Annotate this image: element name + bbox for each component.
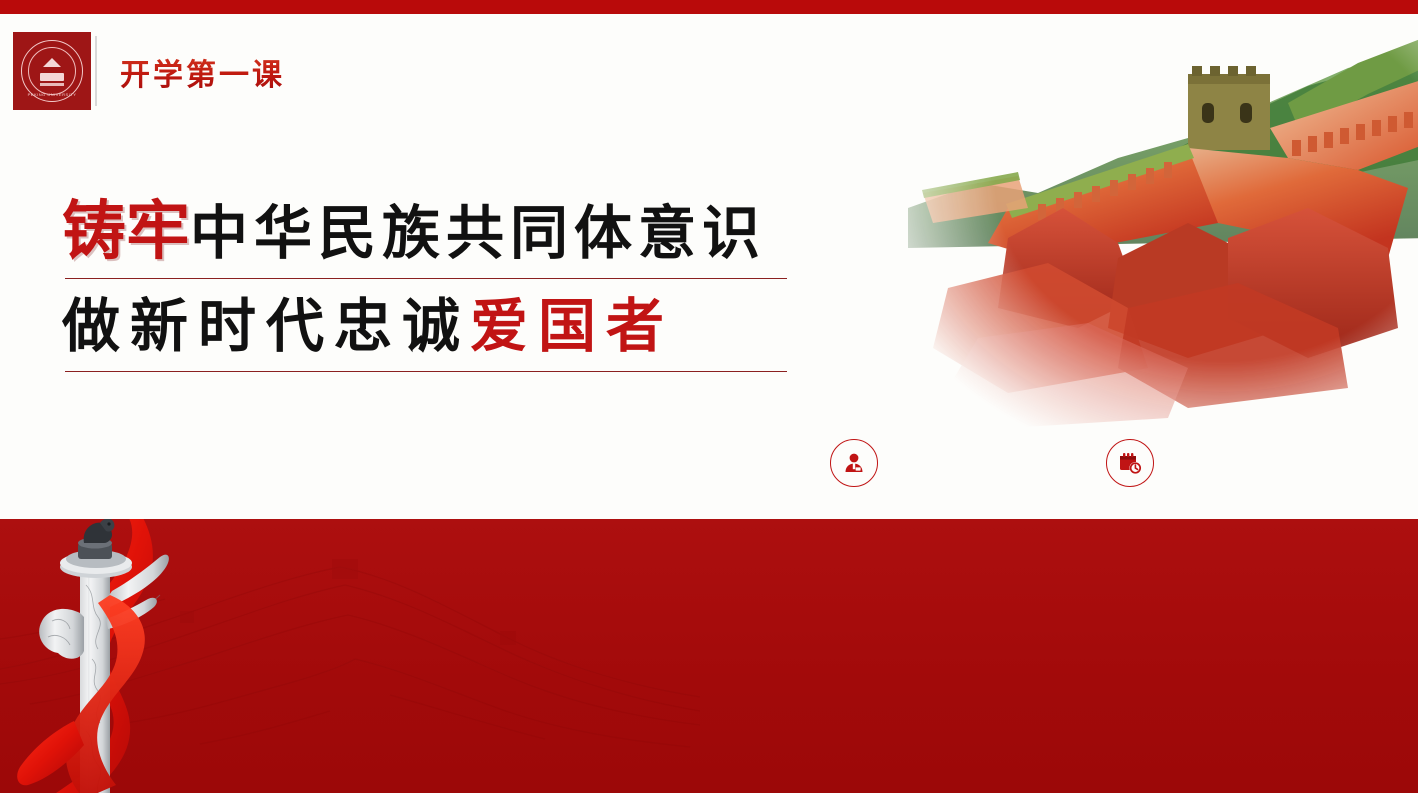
headline-line-2-emphasis: 爱国者 — [470, 292, 674, 360]
header-divider — [95, 36, 97, 106]
calendar-clock-icon — [1117, 450, 1143, 476]
logo-ring-text-bottom: PEKING UNIVERSITY — [28, 92, 77, 97]
huabiao-column-decoration — [14, 519, 214, 793]
meta-badges — [830, 439, 1154, 487]
headline-line-1: 铸牢中华民族共同体意识 — [62, 200, 787, 264]
presenter-icon — [841, 450, 867, 476]
headline-line-2: 做新时代忠诚爱国者 — [62, 297, 787, 355]
presenter-badge[interactable] — [830, 439, 878, 487]
date-badge[interactable] — [1106, 439, 1154, 487]
header-title: 开学第一课 — [120, 50, 285, 94]
headline-line-1-rest: 中华民族共同体意识 — [190, 199, 766, 267]
headline-line-1-emphasis: 铸牢 — [62, 195, 190, 269]
slide-upper-area: PEKING UNIVERSITY 开学第一课 铸牢中华民族共同体意识 做新时代… — [0, 14, 1418, 519]
presentation-slide: PEKING UNIVERSITY 开学第一课 铸牢中华民族共同体意识 做新时代… — [0, 0, 1418, 793]
great-wall-hero-image — [888, 14, 1418, 438]
headline-rule-2 — [65, 371, 787, 372]
slide-headline: 铸牢中华民族共同体意识 做新时代忠诚爱国者 — [62, 200, 787, 372]
headline-rule-1 — [65, 278, 787, 279]
top-accent-bar — [0, 0, 1418, 14]
university-seal-logo: PEKING UNIVERSITY — [13, 32, 91, 110]
headline-line-2-rest: 做新时代忠诚 — [62, 292, 470, 360]
slide-lower-panel — [0, 519, 1418, 793]
